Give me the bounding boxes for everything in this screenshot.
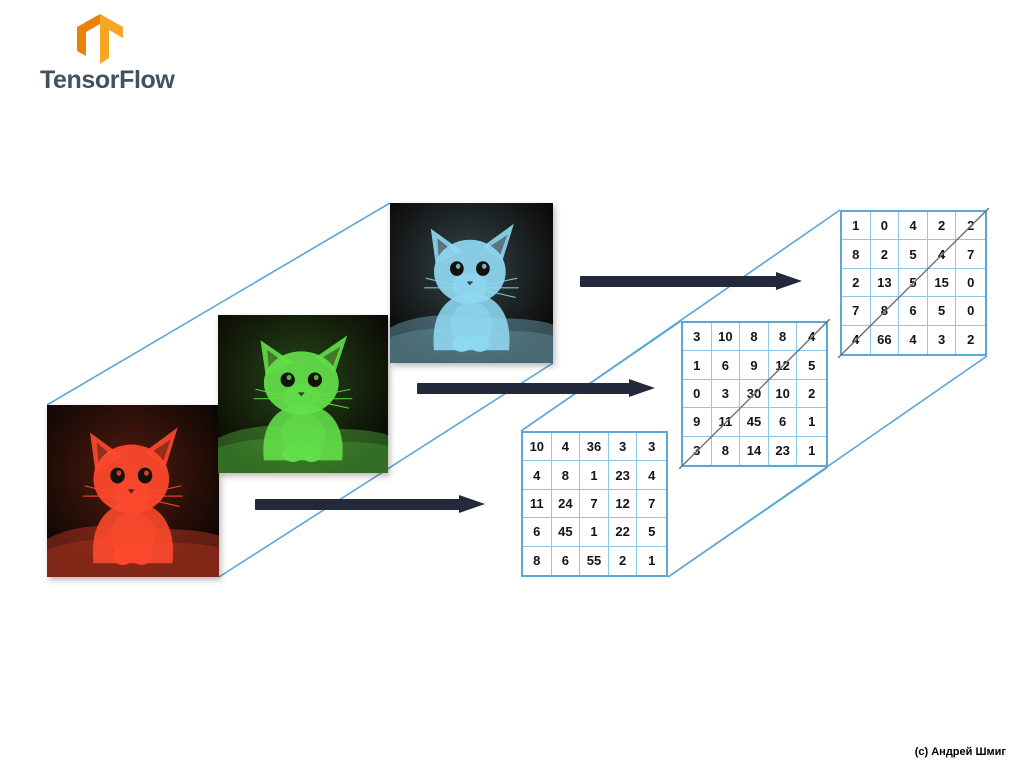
matrix-cell: 2: [956, 326, 985, 354]
arrow-shaft: [255, 499, 461, 510]
matrix-cell: 6: [523, 518, 552, 546]
matrix-cell: 3: [683, 323, 712, 351]
matrix-cell: 4: [899, 212, 928, 240]
matrix-cell: 4: [637, 461, 666, 489]
matrix-cell: 22: [609, 518, 638, 546]
matrix-cell: 3: [637, 433, 666, 461]
matrix-cell: 6: [712, 351, 741, 379]
matrix-cell: 2: [842, 269, 871, 297]
matrix-cell: 8: [740, 323, 769, 351]
matrix-cell: 7: [956, 240, 985, 268]
matrix-cell: 11: [712, 408, 741, 436]
matrix-cell: 6: [552, 547, 581, 575]
persp-line-mid-lower: [668, 467, 828, 577]
matrix-cell: 4: [928, 240, 957, 268]
matrix-cell: 1: [580, 518, 609, 546]
matrix-cell: 9: [683, 408, 712, 436]
matrix-cell: 3: [712, 380, 741, 408]
matrix-cell: 2: [871, 240, 900, 268]
matrix-cell: 12: [609, 490, 638, 518]
arrow-shaft: [580, 276, 778, 287]
matrix-cell: 45: [552, 518, 581, 546]
matrix-cell: 5: [899, 269, 928, 297]
matrix-cell: 1: [797, 408, 826, 436]
matrix-cell: 4: [552, 433, 581, 461]
matrix-cell: 10: [769, 380, 798, 408]
arrow-head-icon: [459, 495, 485, 513]
matrix-cell: 3: [683, 437, 712, 465]
matrix-cell: 7: [637, 490, 666, 518]
matrix-cell: 30: [740, 380, 769, 408]
matrix-cell: 12: [769, 351, 798, 379]
matrix-cell: 24: [552, 490, 581, 518]
matrix-cell: 10: [712, 323, 741, 351]
matrix-cell: 23: [769, 437, 798, 465]
matrix-cell: 8: [871, 297, 900, 325]
arrow-red-to-matrix: [255, 495, 485, 513]
matrix-cell: 8: [712, 437, 741, 465]
matrix-cell: 5: [797, 351, 826, 379]
matrix-cell: 23: [609, 461, 638, 489]
matrix-cell: 2: [609, 547, 638, 575]
arrow-green-to-matrix: [417, 379, 655, 397]
red-channel-image-photo: [47, 405, 219, 577]
matrix-cell: 8: [523, 547, 552, 575]
green-channel-image-photo: [218, 315, 388, 473]
matrix-cell: 4: [523, 461, 552, 489]
matrix-cell: 7: [842, 297, 871, 325]
matrix-cell: 14: [740, 437, 769, 465]
matrix-cell: 66: [871, 326, 900, 354]
matrix-green-channel: 310884169125033010291145613814231: [681, 321, 828, 467]
matrix-cell: 5: [637, 518, 666, 546]
matrix-cell: 0: [683, 380, 712, 408]
matrix-cell: 2: [928, 212, 957, 240]
matrix-cell: 1: [683, 351, 712, 379]
arrow-head-icon: [629, 379, 655, 397]
matrix-cell: 2: [797, 380, 826, 408]
matrix-blue-channel: 1042282547213515078650466432: [840, 210, 987, 356]
matrix-cell: 4: [797, 323, 826, 351]
matrix-cell: 1: [842, 212, 871, 240]
matrix-cell: 1: [637, 547, 666, 575]
arrow-blue-to-matrix: [580, 272, 802, 290]
matrix-cell: 10: [523, 433, 552, 461]
matrix-cell: 8: [552, 461, 581, 489]
blue-channel-image-photo: [390, 203, 553, 363]
matrix-cell: 15: [928, 269, 957, 297]
matrix-cell: 0: [956, 269, 985, 297]
matrix-cell: 0: [871, 212, 900, 240]
matrix-cell: 6: [899, 297, 928, 325]
red-channel-image: [47, 405, 219, 577]
matrix-cell: 55: [580, 547, 609, 575]
blue-channel-image: [390, 203, 553, 363]
matrix-cell: 5: [928, 297, 957, 325]
matrix-cell: 4: [842, 326, 871, 354]
matrix-cell: 5: [899, 240, 928, 268]
matrix-cell: 36: [580, 433, 609, 461]
matrix-cell: 0: [956, 297, 985, 325]
matrix-cell: 7: [580, 490, 609, 518]
matrix-cell: 1: [797, 437, 826, 465]
rgb-channel-decomposition-diagram: 1043633481234112471276451225865521310884…: [0, 0, 1024, 768]
author-credit: (c) Андрей Шмиг: [915, 746, 1006, 758]
matrix-cell: 11: [523, 490, 552, 518]
matrix-cell: 45: [740, 408, 769, 436]
arrow-shaft: [417, 383, 631, 394]
matrix-cell: 3: [928, 326, 957, 354]
matrix-red-channel: 1043633481234112471276451225865521: [521, 431, 668, 577]
matrix-cell: 6: [769, 408, 798, 436]
arrow-head-icon: [776, 272, 802, 290]
matrix-cell: 3: [609, 433, 638, 461]
matrix-cell: 13: [871, 269, 900, 297]
matrix-cell: 8: [769, 323, 798, 351]
matrix-cell: 4: [899, 326, 928, 354]
matrix-cell: 8: [842, 240, 871, 268]
matrix-cell: 1: [580, 461, 609, 489]
matrix-cell: 9: [740, 351, 769, 379]
matrix-cell: 2: [956, 212, 985, 240]
green-channel-image: [218, 315, 388, 473]
